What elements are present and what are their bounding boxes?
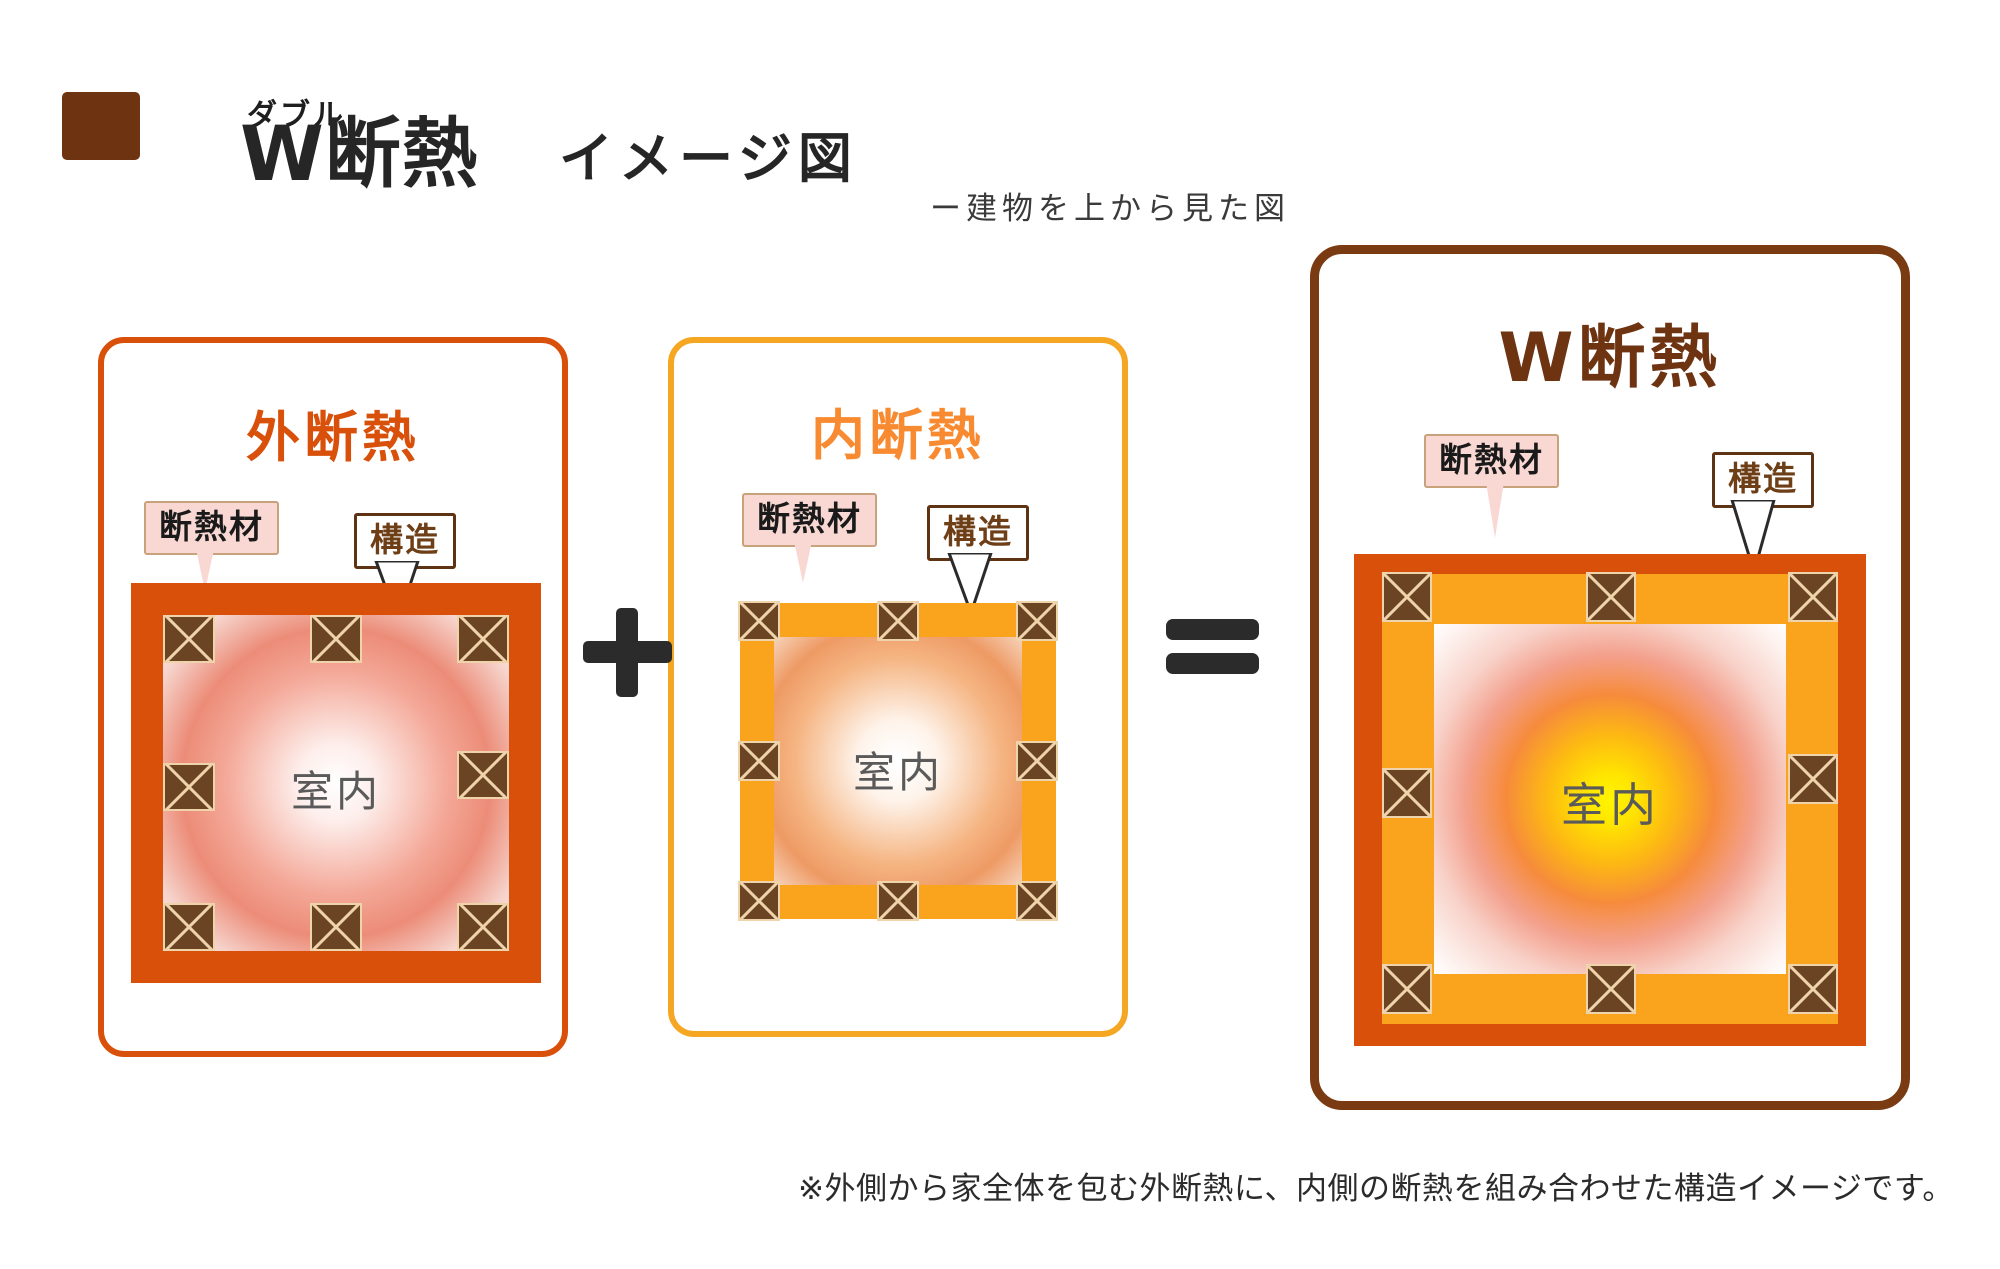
structural-post xyxy=(1016,881,1058,921)
room-label-exterior: 室内 xyxy=(131,758,541,819)
page-title: W断熱 xyxy=(240,116,479,192)
structural-post xyxy=(1382,572,1432,622)
building-diagram-exterior: 室内 xyxy=(131,583,541,983)
callout-insulation-exterior: 断熱材 xyxy=(144,501,279,555)
structural-post xyxy=(1586,572,1636,622)
structural-post xyxy=(877,881,919,921)
structural-post xyxy=(1788,964,1838,1014)
structural-post xyxy=(738,601,780,641)
structural-post xyxy=(1788,572,1838,622)
structural-post xyxy=(163,903,215,951)
callout-structure-exterior: 構造 xyxy=(354,513,456,569)
callout-insulation-double: 断熱材 xyxy=(1424,434,1559,488)
equals-operator-icon xyxy=(1160,608,1265,686)
structural-post xyxy=(1016,601,1058,641)
page-header: ダブル W断熱 イメージ図 ー建物を上から見た図 xyxy=(62,50,1362,170)
structural-post xyxy=(310,615,362,663)
room-label-interior: 室内 xyxy=(728,739,1068,800)
footnote-text: ※外側から家全体を包む外断熱に、内側の断熱を組み合わせた構造イメージです。 xyxy=(798,1163,1954,1208)
panel-interior-insulation: 内断熱 断熱材 構造 室内 xyxy=(668,337,1128,1037)
panel-double-insulation: W断熱 断熱材 構造 室内 xyxy=(1310,245,1910,1110)
structural-post xyxy=(877,601,919,641)
structural-post xyxy=(738,881,780,921)
building-diagram-double: 室内 xyxy=(1354,554,1866,1046)
page-subtitle: ー建物を上から見た図 xyxy=(930,183,1290,228)
callout-tail-icon xyxy=(1486,482,1504,538)
callout-structure-interior: 構造 xyxy=(927,505,1029,561)
callout-tail-icon xyxy=(794,541,812,583)
page-title-suffix: イメージ図 xyxy=(559,132,858,186)
room-label-double: 室内 xyxy=(1354,769,1866,835)
panel-title-exterior: 外断熱 xyxy=(104,393,562,472)
callout-insulation-label: 断熱材 xyxy=(742,493,877,547)
callout-insulation-interior: 断熱材 xyxy=(742,493,877,547)
callout-insulation-label: 断熱材 xyxy=(1424,434,1559,488)
structural-post xyxy=(310,903,362,951)
structural-post xyxy=(457,615,509,663)
panel-exterior-insulation: 外断熱 断熱材 構造 室内 xyxy=(98,337,568,1057)
panel-title-double: W断熱 xyxy=(1319,302,1901,401)
structural-post xyxy=(1586,964,1636,1014)
structural-post xyxy=(1382,964,1432,1014)
building-diagram-interior: 室内 xyxy=(728,591,1068,931)
plus-operator-icon xyxy=(575,600,680,705)
header-marker-square xyxy=(62,92,140,160)
callout-structure-double: 構造 xyxy=(1712,452,1814,508)
structural-post xyxy=(457,903,509,951)
panel-title-interior: 内断熱 xyxy=(674,391,1122,470)
callout-insulation-label: 断熱材 xyxy=(144,501,279,555)
structural-post xyxy=(163,615,215,663)
